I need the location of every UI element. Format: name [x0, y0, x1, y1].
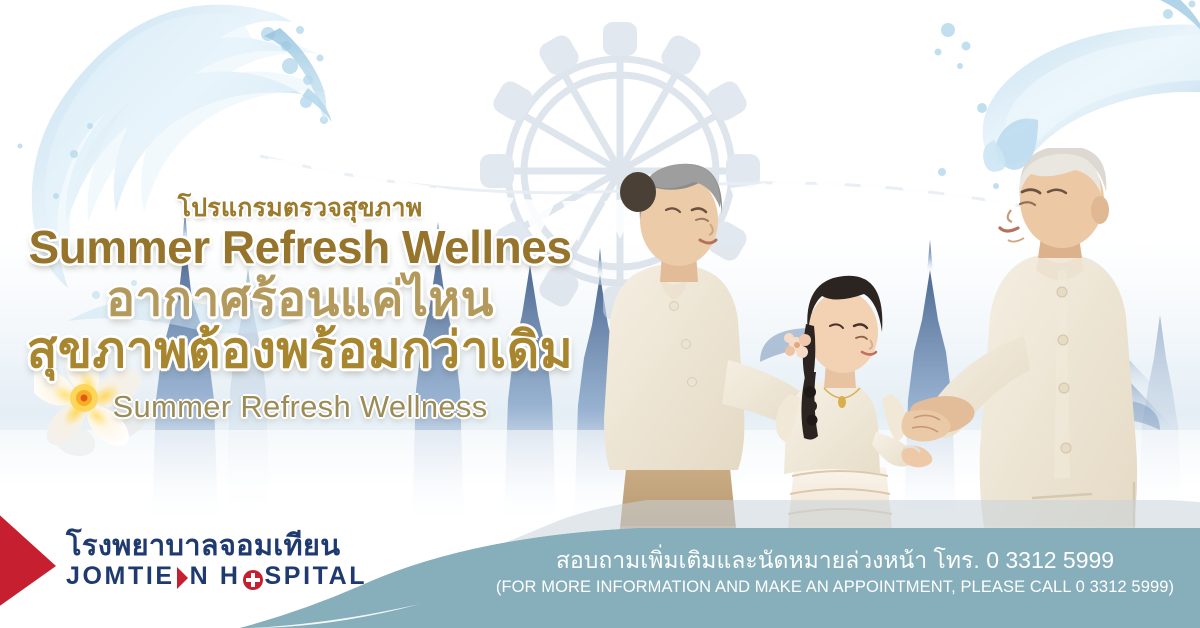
logo-english-name: JOMTIE N H SPITAL: [66, 562, 367, 591]
footer-bar: โรงพยาบาลจอมเทียน JOMTIE N H SPITAL: [0, 500, 1200, 628]
water-splash-graphic: [930, 0, 1200, 200]
headline-subtitle: Summer Refresh Wellness: [0, 388, 600, 425]
headline-thai-line-1: อากาศร้อนแค่ไหน: [0, 274, 600, 327]
logo-english-part-2: N H: [190, 562, 241, 591]
headline-kicker: โปรแกรมตรวจสุขภาพ: [0, 196, 600, 221]
red-medical-cross-icon: [242, 569, 264, 591]
contact-english-text: (FOR MORE INFORMATION AND MAKE AN APPOIN…: [496, 577, 1174, 598]
headline-block: โปรแกรมตรวจสุขภาพ Summer Refresh Wellnes…: [0, 196, 600, 476]
contact-block: สอบถามเพิ่มเติมและนัดหมายล่วงหน้า โทร. 0…: [470, 500, 1200, 628]
headline-english-title: Summer Refresh Wellnes: [0, 223, 600, 272]
hospital-logo[interactable]: โรงพยาบาลจอมเทียน JOMTIE N H SPITAL: [0, 500, 430, 628]
grandparents-and-girl-photo: [600, 148, 1200, 548]
headline-thai-line-2: สุขภาพต้องพร้อมกว่าเดิม: [0, 323, 600, 378]
logo-english-part-1: JOMTIE: [66, 562, 175, 591]
promo-banner: โปรแกรมตรวจสุขภาพ Summer Refresh Wellnes…: [0, 0, 1200, 628]
logo-english-part-3: SPITAL: [265, 562, 368, 591]
contact-thai-text: สอบถามเพิ่มเติมและนัดหมายล่วงหน้า โทร. 0…: [556, 546, 1114, 575]
red-triangle-arrow-icon: [176, 566, 189, 590]
red-triangle-arrow-icon: [0, 508, 64, 612]
